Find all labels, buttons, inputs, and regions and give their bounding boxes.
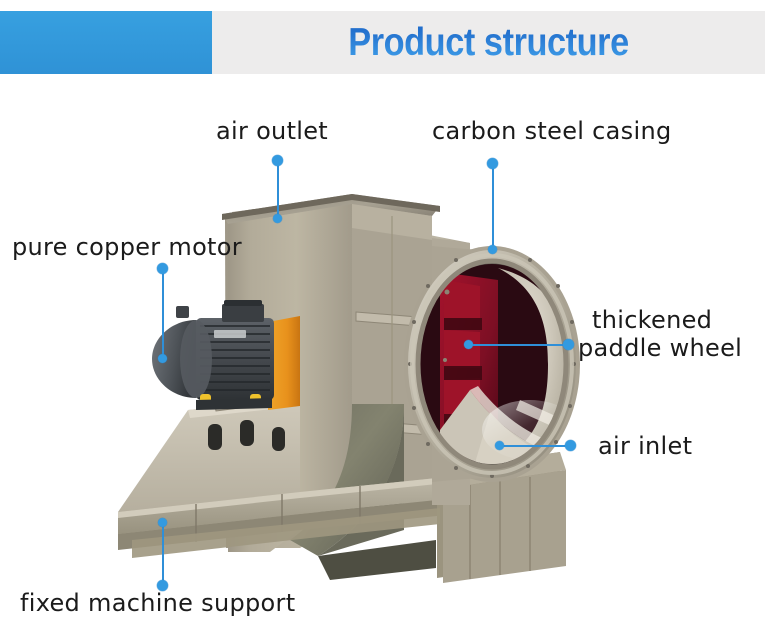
leader-thickened-paddle-wheel xyxy=(469,344,568,346)
dot-thickened-paddle-wheel-text xyxy=(563,339,574,350)
label-air-outlet: air outlet xyxy=(216,117,328,145)
leader-fixed-machine-support xyxy=(162,523,164,585)
leader-air-inlet xyxy=(500,445,570,447)
label-fixed-machine-support: fixed machine support xyxy=(20,589,295,617)
leader-pure-copper-motor xyxy=(162,271,164,358)
dot-air-inlet-target xyxy=(495,441,504,450)
label-thickened-paddle-wheel-line1: thickened xyxy=(578,307,760,335)
label-carbon-steel-casing: carbon steel casing xyxy=(432,117,672,145)
product-structure-diagram: Product structure xyxy=(0,0,765,633)
label-air-inlet: air inlet xyxy=(598,432,692,460)
dot-pure-copper-motor-target xyxy=(158,354,167,363)
label-thickened-paddle-wheel-line2: paddle wheel xyxy=(578,335,760,363)
dot-air-outlet-target xyxy=(273,214,282,223)
leader-carbon-steel-casing xyxy=(492,166,494,249)
dot-pure-copper-motor-text xyxy=(157,263,168,274)
leader-air-outlet xyxy=(277,163,279,221)
dot-air-outlet-text xyxy=(272,155,283,166)
label-thickened-paddle-wheel: thickened paddle wheel xyxy=(578,307,760,363)
dot-fixed-machine-support-target xyxy=(158,518,167,527)
dot-air-inlet-text xyxy=(565,440,576,451)
label-pure-copper-motor: pure copper motor xyxy=(12,233,242,261)
dot-carbon-steel-casing-target xyxy=(488,245,497,254)
dot-thickened-paddle-wheel-target xyxy=(464,340,473,349)
dot-carbon-steel-casing-text xyxy=(487,158,498,169)
